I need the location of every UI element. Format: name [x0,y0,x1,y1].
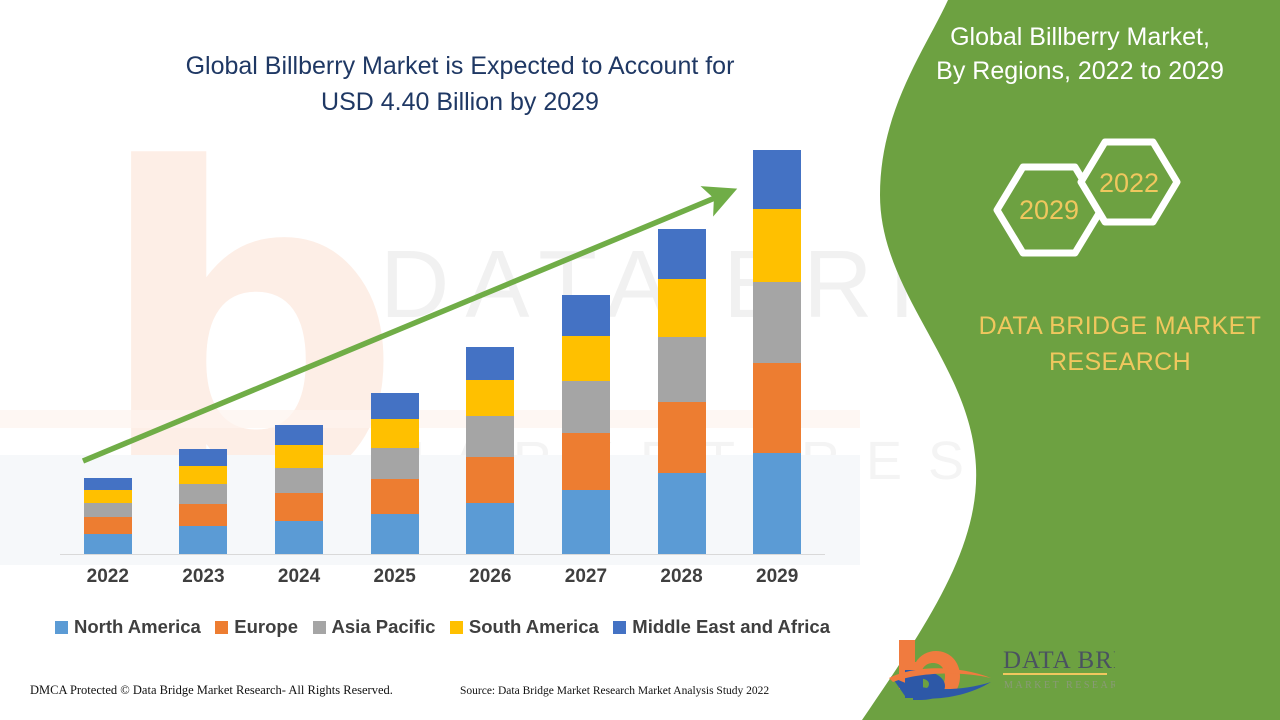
stacked-bar[interactable] [275,425,323,554]
legend-label: South America [469,616,599,638]
bar-segment[interactable] [275,445,323,468]
legend-label: North America [74,616,201,638]
bar-segment[interactable] [84,503,132,518]
bar-segment[interactable] [275,425,323,445]
stacked-bar[interactable] [179,449,227,554]
bar-segment[interactable] [179,449,227,466]
bar-segment[interactable] [753,363,801,453]
legend-item[interactable]: Middle East and Africa [613,616,830,638]
bar-segment[interactable] [371,419,419,447]
stacked-bar[interactable] [562,295,610,554]
bar-segment[interactable] [658,279,706,337]
bar-segment[interactable] [84,517,132,534]
panel-title-line2: By Regions, 2022 to 2029 [900,54,1260,88]
stacked-bar[interactable] [753,150,801,554]
footer-dmca-text: DMCA Protected © Data Bridge Market Rese… [30,683,393,698]
bar-segment[interactable] [753,209,801,282]
bar-segment[interactable] [179,504,227,526]
bar-segment[interactable] [179,466,227,484]
bar-segment[interactable] [371,479,419,514]
bar-slot [251,150,347,554]
chart-plot-area [60,150,825,555]
bar-slot [634,150,730,554]
bar-segment[interactable] [466,380,514,417]
bar-slot [538,150,634,554]
bar-segment[interactable] [466,347,514,379]
bar-segment[interactable] [466,503,514,554]
chart-legend: North AmericaEuropeAsia PacificSouth Ame… [55,616,830,638]
data-bridge-logo: DATA BRIDGE MARKET RESEARCH [885,636,1115,702]
chart-title-line2: USD 4.40 Billion by 2029 [110,84,810,120]
bar-segment[interactable] [658,337,706,401]
legend-item[interactable]: Asia Pacific [313,616,436,638]
x-axis-label: 2023 [156,566,252,588]
x-axis-label: 2022 [60,566,156,588]
bar-segment[interactable] [562,336,610,382]
stacked-bar[interactable] [371,393,419,554]
bar-segment[interactable] [371,448,419,479]
bar-segment[interactable] [658,473,706,554]
bar-segment[interactable] [753,282,801,363]
legend-item[interactable]: North America [55,616,201,638]
bar-group [60,150,825,554]
bar-segment[interactable] [753,453,801,554]
bar-segment[interactable] [179,526,227,554]
panel-brand-line1: DATA BRIDGE MARKET [960,308,1280,344]
bar-slot [60,150,156,554]
bar-slot [443,150,539,554]
chart-title-line1: Global Billberry Market is Expected to A… [110,48,810,84]
logo-subwordmark: MARKET RESEARCH [1004,680,1115,691]
bar-segment[interactable] [753,150,801,209]
legend-label: Middle East and Africa [632,616,830,638]
hexagon-2022-label: 2022 [1099,168,1159,198]
logo-wordmark: DATA BRIDGE [1003,647,1115,674]
panel-brand-text: DATA BRIDGE MARKET RESEARCH [960,308,1280,380]
legend-swatch-icon [313,621,326,634]
bar-segment[interactable] [658,229,706,280]
bar-segment[interactable] [562,295,610,335]
legend-label: Europe [234,616,298,638]
x-axis-line [60,554,825,555]
bar-segment[interactable] [275,468,323,494]
bar-segment[interactable] [84,534,132,554]
bar-segment[interactable] [84,490,132,503]
legend-item[interactable]: South America [450,616,599,638]
bar-segment[interactable] [275,521,323,554]
bar-segment[interactable] [84,478,132,490]
bar-segment[interactable] [466,457,514,503]
bar-segment[interactable] [658,402,706,474]
stacked-bar[interactable] [84,478,132,554]
x-axis-label: 2028 [634,566,730,588]
x-axis-label: 2026 [443,566,539,588]
slide-root: b DATA BRIDGE MARKET RESEARCH Global Bil… [0,0,1280,720]
legend-label: Asia Pacific [332,616,436,638]
bar-segment[interactable] [371,393,419,419]
x-axis-label: 2029 [729,566,825,588]
bar-segment[interactable] [371,514,419,554]
panel-title-line1: Global Billberry Market, [900,20,1260,54]
x-axis-label: 2024 [251,566,347,588]
bar-segment[interactable] [562,381,610,432]
bar-segment[interactable] [179,484,227,504]
footer-source-text: Source: Data Bridge Market Research Mark… [460,685,769,697]
legend-swatch-icon [55,621,68,634]
panel-brand-line2: RESEARCH [960,344,1280,380]
legend-item[interactable]: Europe [215,616,298,638]
bar-segment[interactable] [562,433,610,490]
bar-slot [156,150,252,554]
bar-segment[interactable] [275,493,323,521]
bar-segment[interactable] [466,416,514,456]
bar-slot [347,150,443,554]
x-axis-label: 2025 [347,566,443,588]
x-axis-label: 2027 [538,566,634,588]
legend-swatch-icon [450,621,463,634]
bar-segment[interactable] [562,490,610,554]
stacked-bar[interactable] [658,229,706,554]
hexagon-badges: 2029 2022 [975,130,1205,290]
legend-swatch-icon [215,621,228,634]
stacked-bar[interactable] [466,347,514,554]
panel-title: Global Billberry Market, By Regions, 202… [900,20,1260,88]
chart-title: Global Billberry Market is Expected to A… [110,48,810,120]
legend-swatch-icon [613,621,626,634]
hexagon-2029-label: 2029 [1019,195,1079,225]
bar-slot [729,150,825,554]
x-axis-labels: 20222023202420252026202720282029 [60,566,825,588]
